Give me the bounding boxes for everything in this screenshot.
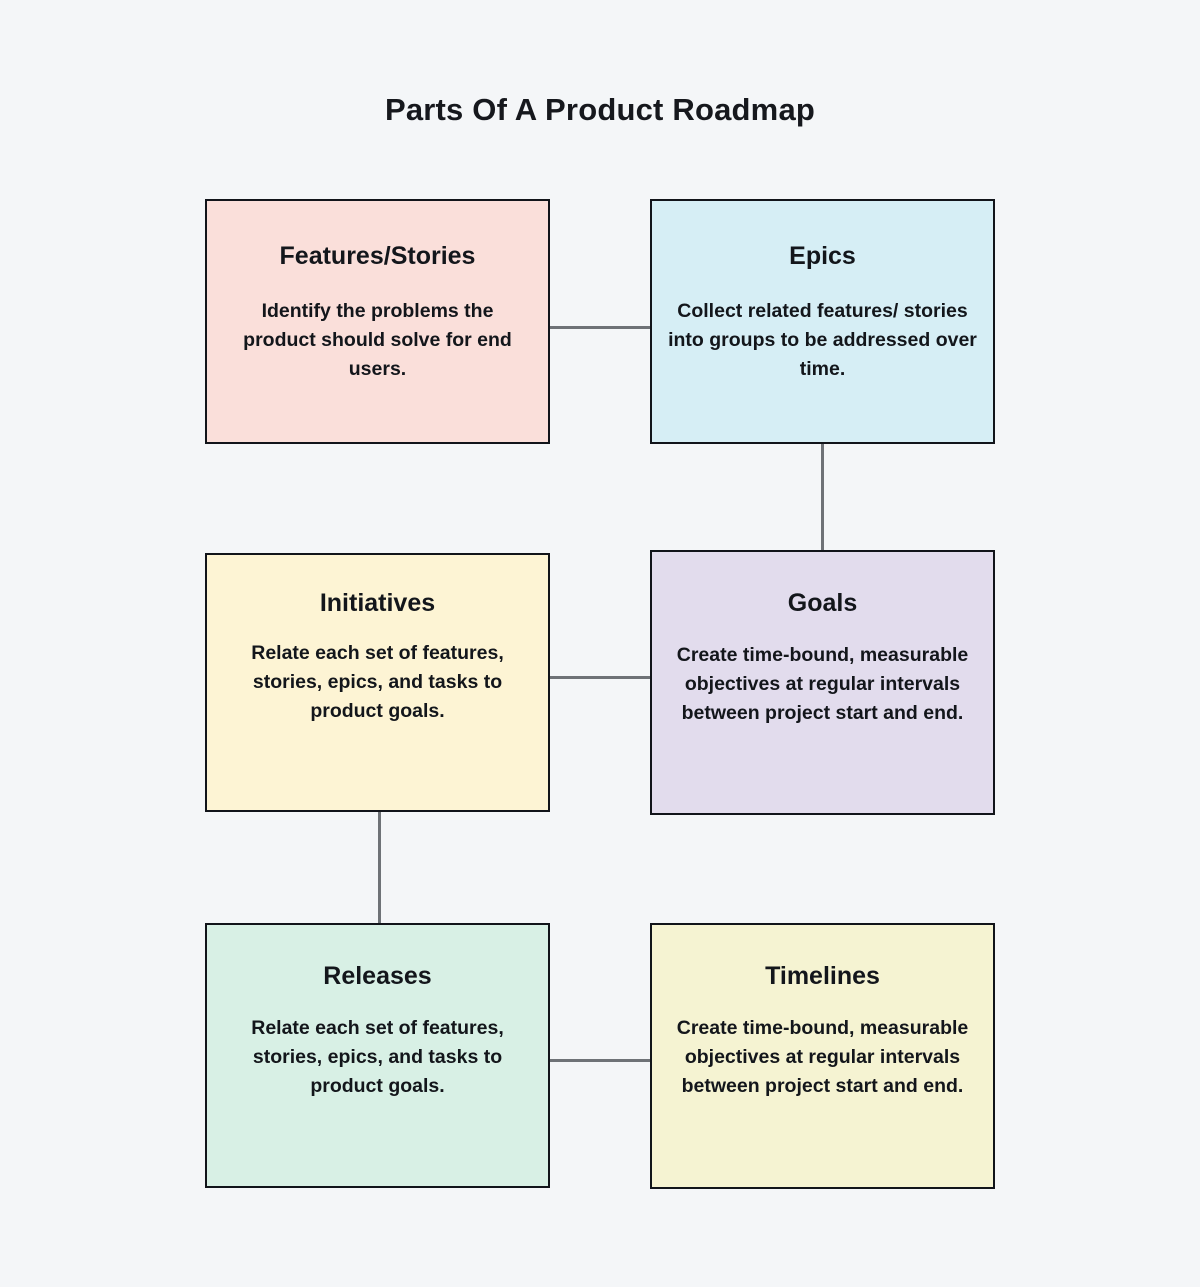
- connector-initiatives-to-goals: [549, 676, 652, 679]
- node-initiatives[interactable]: Initiatives Relate each set of features,…: [205, 553, 550, 812]
- connector-features-to-epics: [549, 326, 652, 329]
- node-initiatives-title: Initiatives: [320, 588, 435, 618]
- node-epics-description: Collect related features/ stories into g…: [652, 297, 993, 384]
- node-releases[interactable]: Releases Relate each set of features, st…: [205, 923, 550, 1188]
- node-releases-description: Relate each set of features, stories, ep…: [207, 1014, 548, 1101]
- node-timelines-title: Timelines: [765, 961, 880, 991]
- node-goals-title: Goals: [788, 588, 857, 618]
- connector-initiatives-to-releases: [378, 811, 381, 925]
- node-goals-description: Create time-bound, measurable objectives…: [652, 641, 993, 728]
- node-timelines-description: Create time-bound, measurable objectives…: [652, 1014, 993, 1101]
- connector-epics-to-goals: [821, 443, 824, 553]
- connector-releases-to-timelines: [549, 1059, 652, 1062]
- page-title: Parts Of A Product Roadmap: [0, 92, 1200, 128]
- node-features-stories-title: Features/Stories: [280, 241, 476, 271]
- node-features-stories[interactable]: Features/Stories Identify the problems t…: [205, 199, 550, 444]
- node-features-stories-description: Identify the problems the product should…: [207, 297, 548, 384]
- node-timelines[interactable]: Timelines Create time-bound, measurable …: [650, 923, 995, 1189]
- node-goals[interactable]: Goals Create time-bound, measurable obje…: [650, 550, 995, 815]
- node-initiatives-description: Relate each set of features, stories, ep…: [207, 639, 548, 726]
- node-epics-title: Epics: [789, 241, 856, 271]
- node-releases-title: Releases: [323, 961, 431, 991]
- node-epics[interactable]: Epics Collect related features/ stories …: [650, 199, 995, 444]
- diagram-canvas: Parts Of A Product Roadmap Features/Stor…: [0, 0, 1200, 1287]
